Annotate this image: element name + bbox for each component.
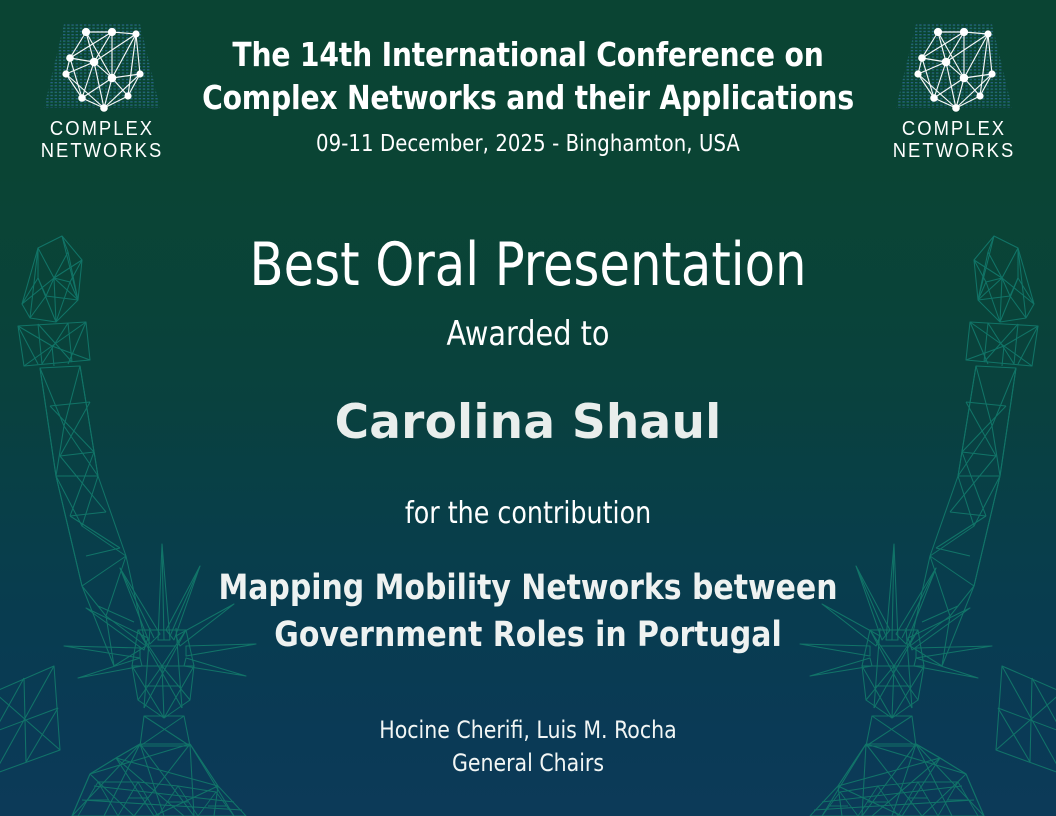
logo-wordmark: COMPLEX NETWORKS	[888, 118, 1020, 163]
certificate-canvas: COMPLEX NETWORKS The 14th International …	[0, 0, 1056, 816]
contribution-label: for the contribution	[32, 496, 1025, 531]
certificate-header: COMPLEX NETWORKS The 14th International …	[0, 0, 1056, 175]
signatory-names: Hocine Cherifi, Luis M. Rocha	[26, 714, 1029, 747]
certificate-body: Best Oral Presentation Awarded to Caroli…	[0, 175, 1056, 816]
conference-date-location: 09-11 December, 2025 - Binghamton, USA	[192, 131, 865, 157]
logo-line-complex: COMPLEX	[36, 118, 168, 140]
conference-title: The 14th International Conference on Com…	[192, 34, 865, 120]
recipient-name: Carolina Shaul	[0, 395, 1056, 450]
logo-line-networks: NETWORKS	[36, 140, 168, 162]
award-title: Best Oral Presentation	[42, 234, 1014, 297]
paper-title-line1: Mapping Mobility Networks between	[26, 565, 1029, 612]
signatory-role: General Chairs	[26, 747, 1029, 780]
logo-line-networks: NETWORKS	[888, 140, 1020, 162]
conference-title-line1: The 14th International Conference on	[192, 34, 865, 77]
logo-wordmark: COMPLEX NETWORKS	[36, 118, 168, 163]
logo-line-complex: COMPLEX	[888, 118, 1020, 140]
logo-right: COMPLEX NETWORKS	[882, 18, 1026, 163]
paper-title-line2: Government Roles in Portugal	[26, 612, 1029, 659]
paper-title: Mapping Mobility Networks between Govern…	[26, 565, 1029, 658]
conference-banner: The 14th International Conference on Com…	[174, 18, 882, 157]
complex-networks-logo-icon	[42, 18, 162, 114]
complex-networks-logo-icon	[894, 18, 1014, 114]
conference-title-line2: Complex Networks and their Applications	[192, 77, 865, 120]
signature-block: Hocine Cherifi, Luis M. Rocha General Ch…	[26, 714, 1029, 780]
awarded-to-label: Awarded to	[32, 314, 1025, 354]
logo-left: COMPLEX NETWORKS	[30, 18, 174, 163]
